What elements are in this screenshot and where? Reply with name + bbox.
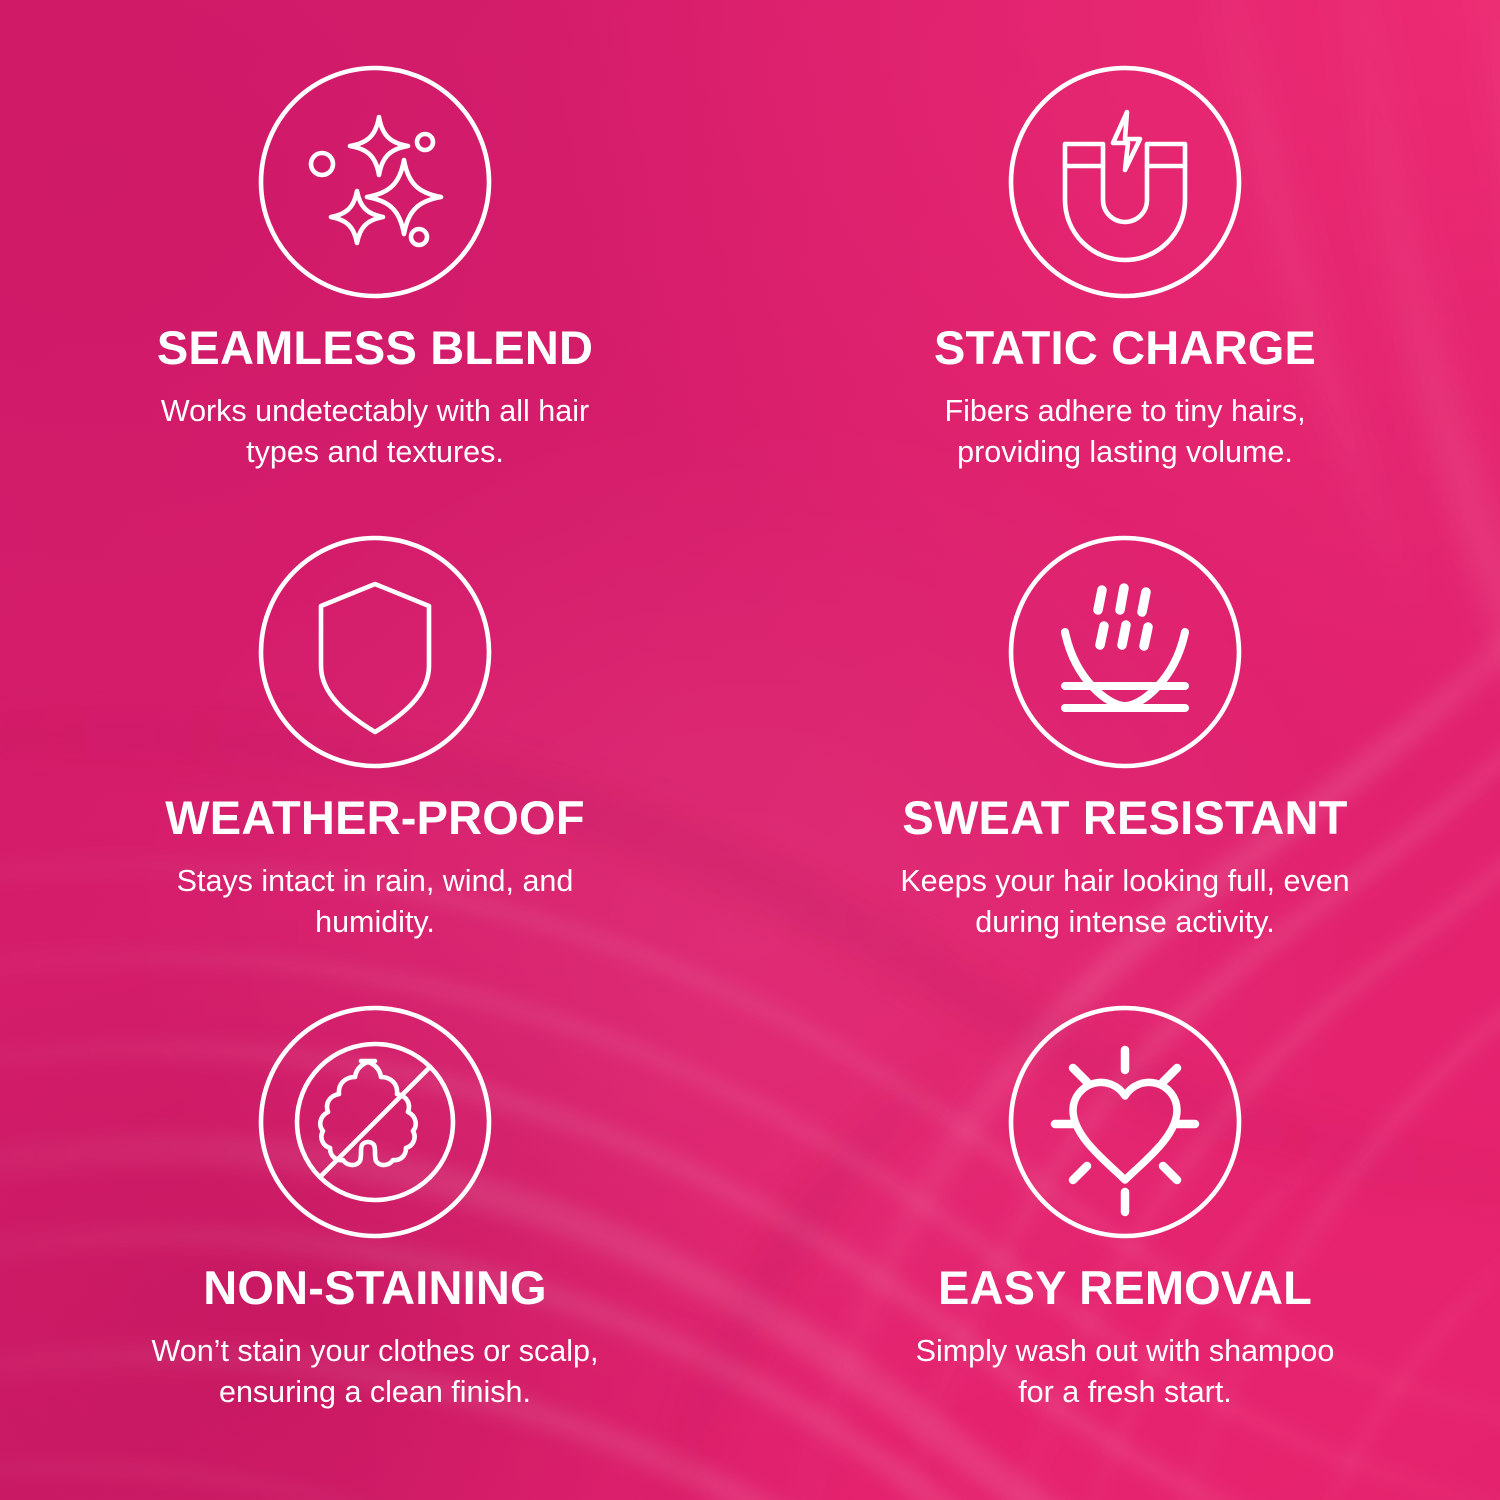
feature-card-sweat-resistant: SWEAT RESISTANT Keeps your hair looking … — [750, 536, 1500, 1006]
no-stain-icon — [259, 1006, 491, 1238]
feature-description: Simply wash out with shampoo for a fresh… — [916, 1331, 1335, 1413]
feature-title: STATIC CHARGE — [934, 324, 1316, 373]
feature-description-line: during intense activity. — [900, 902, 1349, 943]
feature-card-static-charge: STATIC CHARGE Fibers adhere to tiny hair… — [750, 66, 1500, 536]
feature-description-line: humidity. — [177, 902, 574, 943]
feature-description-line: for a fresh start. — [916, 1372, 1335, 1413]
feature-title: SEAMLESS BLEND — [157, 324, 593, 373]
feature-description-line: Keeps your hair looking full, even — [900, 861, 1349, 902]
feature-title: SWEAT RESISTANT — [902, 794, 1347, 843]
feature-description: Works undetectably with all hair types a… — [161, 391, 589, 473]
feature-description: Keeps your hair looking full, even durin… — [900, 861, 1349, 943]
heart-shine-icon — [1009, 1006, 1241, 1238]
feature-description-line: ensuring a clean finish. — [152, 1372, 599, 1413]
feature-grid: SEAMLESS BLEND Works undetectably with a… — [0, 0, 1500, 1500]
feature-card-non-staining: NON-STAINING Won’t stain your clothes or… — [0, 1006, 750, 1476]
feature-description-line: Won’t stain your clothes or scalp, — [152, 1331, 599, 1372]
feature-card-easy-removal: EASY REMOVAL Simply wash out with shampo… — [750, 1006, 1500, 1476]
feature-description-line: providing lasting volume. — [944, 432, 1305, 473]
shield-icon — [259, 536, 491, 768]
feature-card-seamless-blend: SEAMLESS BLEND Works undetectably with a… — [0, 66, 750, 536]
magnet-bolt-icon — [1009, 66, 1241, 298]
feature-card-weather-proof: WEATHER-PROOF Stays intact in rain, wind… — [0, 536, 750, 1006]
feature-description-line: types and textures. — [161, 432, 589, 473]
feature-description: Stays intact in rain, wind, and humidity… — [177, 861, 574, 943]
feature-description-line: Works undetectably with all hair — [161, 391, 589, 432]
water-repellent-icon — [1009, 536, 1241, 768]
feature-description: Won’t stain your clothes or scalp, ensur… — [152, 1331, 599, 1413]
feature-description-line: Fibers adhere to tiny hairs, — [944, 391, 1305, 432]
feature-description: Fibers adhere to tiny hairs, providing l… — [944, 391, 1305, 473]
feature-title: NON-STAINING — [203, 1264, 547, 1313]
feature-title: EASY REMOVAL — [938, 1264, 1312, 1313]
feature-title: WEATHER-PROOF — [165, 794, 584, 843]
sparkles-icon — [259, 66, 491, 298]
feature-description-line: Simply wash out with shampoo — [916, 1331, 1335, 1372]
feature-description-line: Stays intact in rain, wind, and — [177, 861, 574, 902]
